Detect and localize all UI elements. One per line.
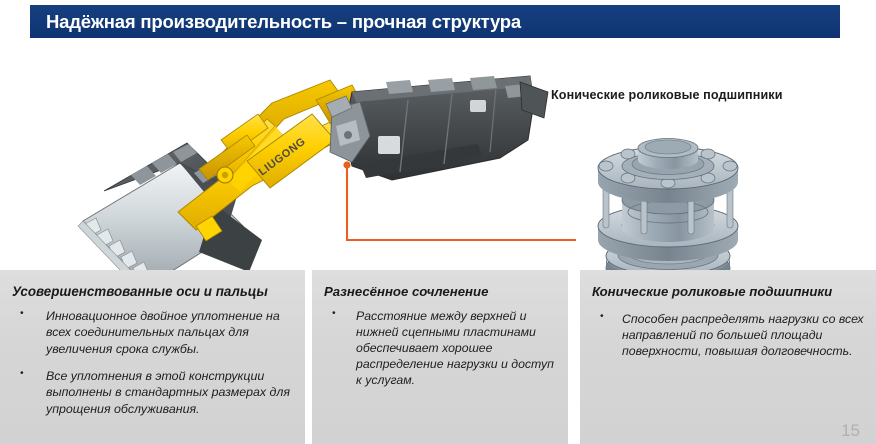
feature-box-title: Усовершенствованные оси и пальцы: [12, 284, 295, 301]
list-item: Инновационное двойное уплотнение на всех…: [10, 308, 295, 357]
bearing-caption: Конические роликовые подшипники: [551, 88, 783, 102]
feature-box-tapered-bearings: Конические роликовые подшипники Способен…: [580, 270, 876, 444]
slide-header-bar: Надёжная производительность – прочная ст…: [30, 5, 840, 38]
feature-box-axles-pins: Усовершенствованные оси и пальцы Инновац…: [0, 270, 305, 444]
tapered-roller-bearing-icon: [598, 139, 738, 273]
feature-bullet-list: Расстояние между верхней и нижней сцепны…: [322, 308, 558, 389]
feature-bullet-list: Инновационное двойное уплотнение на всех…: [10, 308, 295, 417]
slide-root: Надёжная производительность – прочная ст…: [0, 0, 876, 444]
list-item: Способен распределять нагрузки со всех н…: [590, 311, 866, 360]
list-item: Расстояние между верхней и нижней сцепны…: [322, 308, 558, 389]
list-item: Все уплотнения в этой конструкции выполн…: [10, 368, 295, 417]
page-number: 15: [841, 421, 860, 441]
feature-box-title: Разнесённое сочленение: [324, 284, 558, 301]
illustration-area: LIUGONG: [0, 40, 876, 272]
chassis-frame-icon: [326, 76, 548, 180]
feature-bullet-list: Способен распределять нагрузки со всех н…: [590, 311, 866, 360]
page-title: Надёжная производительность – прочная ст…: [46, 11, 521, 33]
feature-boxes: Усовершенствованные оси и пальцы Инновац…: [0, 270, 876, 444]
feature-box-spread-articulation: Разнесённое сочленение Расстояние между …: [312, 270, 568, 444]
feature-box-title: Конические роликовые подшипники: [592, 284, 866, 301]
machinery-diagram: LIUGONG: [0, 40, 876, 272]
